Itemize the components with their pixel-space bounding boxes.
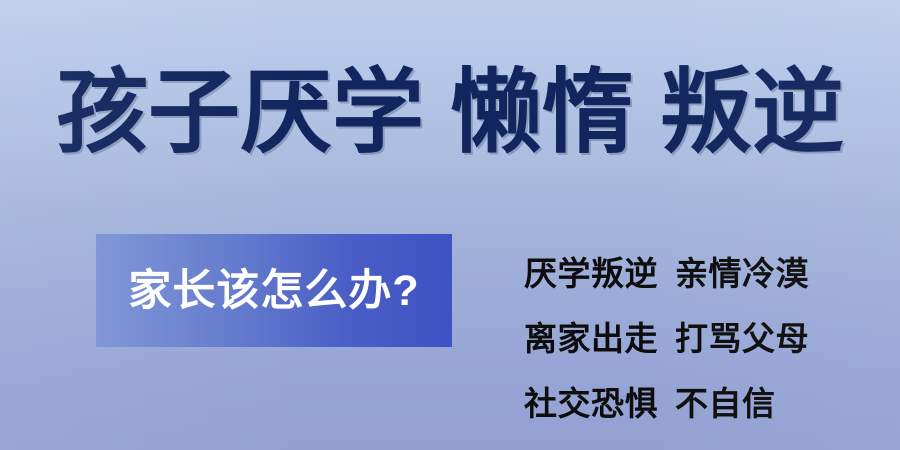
question-text: 家长该怎么办? bbox=[128, 267, 419, 315]
symptom-line: 社交恐惧不自信 bbox=[524, 371, 854, 436]
question-highlight-box: 家长该怎么办? bbox=[96, 234, 452, 347]
symptom-item: 离家出走 bbox=[524, 306, 658, 371]
symptom-line: 厌学叛逆亲情冷漠 bbox=[524, 241, 854, 306]
headline-segment-2: 懒惰 bbox=[450, 58, 634, 168]
page-title: 孩子厌学懒惰叛逆 bbox=[0, 58, 900, 168]
headline-segment-1: 孩子厌学 bbox=[56, 58, 424, 168]
symptom-line: 离家出走打骂父母 bbox=[524, 306, 854, 371]
symptom-item: 社交恐惧 bbox=[524, 371, 658, 436]
poster-canvas: 孩子厌学懒惰叛逆 家长该怎么办? 厌学叛逆亲情冷漠 离家出走打骂父母 社交恐惧不… bbox=[0, 0, 900, 450]
symptom-list: 厌学叛逆亲情冷漠 离家出走打骂父母 社交恐惧不自信 bbox=[524, 241, 854, 436]
symptom-item: 亲情冷漠 bbox=[675, 241, 809, 306]
headline-segment-3: 叛逆 bbox=[660, 58, 844, 168]
symptom-item: 打骂父母 bbox=[675, 306, 809, 371]
symptom-item: 不自信 bbox=[675, 371, 776, 436]
symptom-item: 厌学叛逆 bbox=[524, 241, 658, 306]
